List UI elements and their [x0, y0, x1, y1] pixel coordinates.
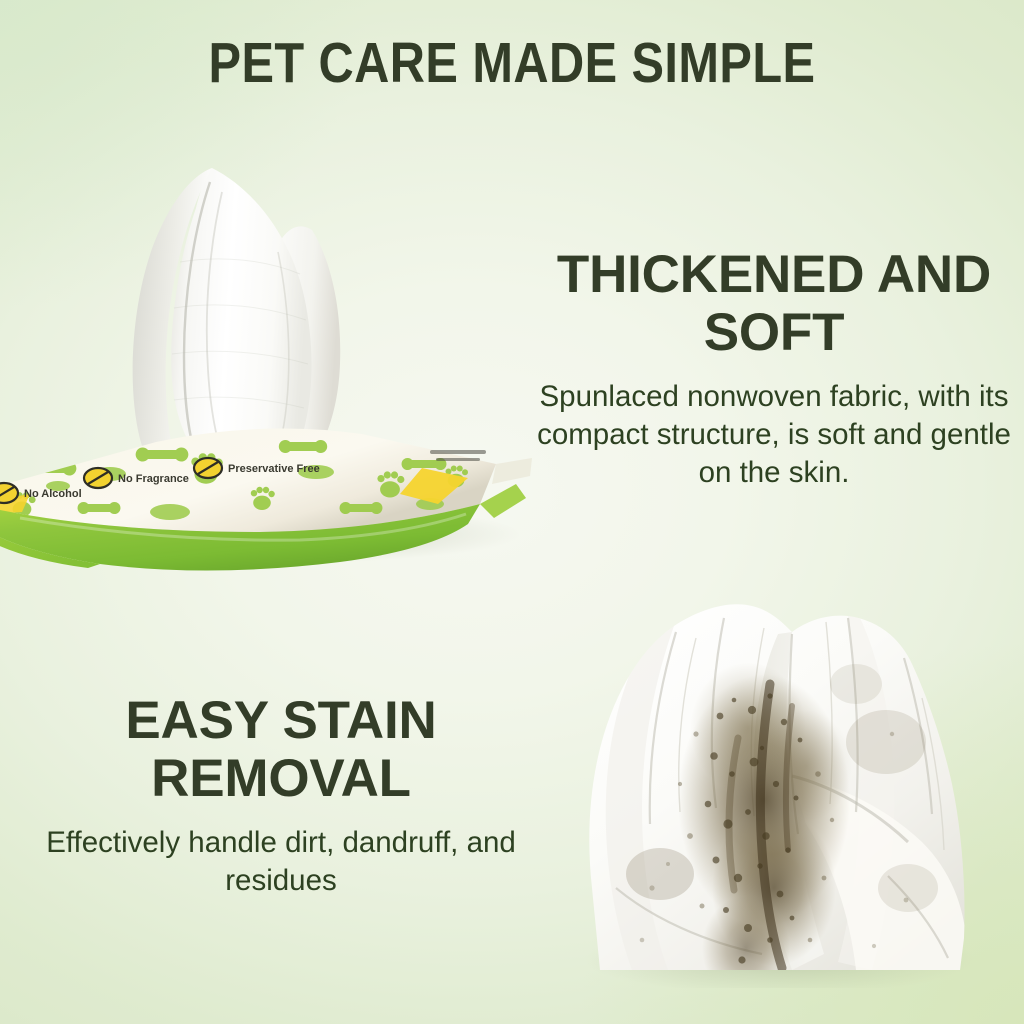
svg-text:Preservative Free: Preservative Free	[228, 463, 320, 475]
svg-text:No Fragrance: No Fragrance	[118, 473, 189, 485]
page-title: PET CARE MADE SIMPLE	[74, 34, 950, 93]
feature-body: Effectively handle dirt, dandruff, and r…	[16, 824, 546, 901]
feature-title: EASY STAIN REMOVAL	[16, 692, 546, 808]
svg-text:No Alcohol: No Alcohol	[24, 488, 82, 500]
feature-title: THICKENED AND SOFT	[528, 246, 1020, 362]
feature-easy-stain-removal: EASY STAIN REMOVAL Effectively handle di…	[16, 692, 546, 900]
wipes-package-image: No Alcohol No Fragrance Preservative Fre…	[0, 112, 560, 572]
feature-thickened-and-soft: THICKENED AND SOFT Spunlaced nonwoven fa…	[528, 246, 1020, 493]
dirty-wipe-image	[556, 588, 996, 988]
infographic-page: PET CARE MADE SIMPLE	[0, 0, 1024, 1024]
feature-body: Spunlaced nonwoven fabric, with its comp…	[528, 378, 1020, 493]
